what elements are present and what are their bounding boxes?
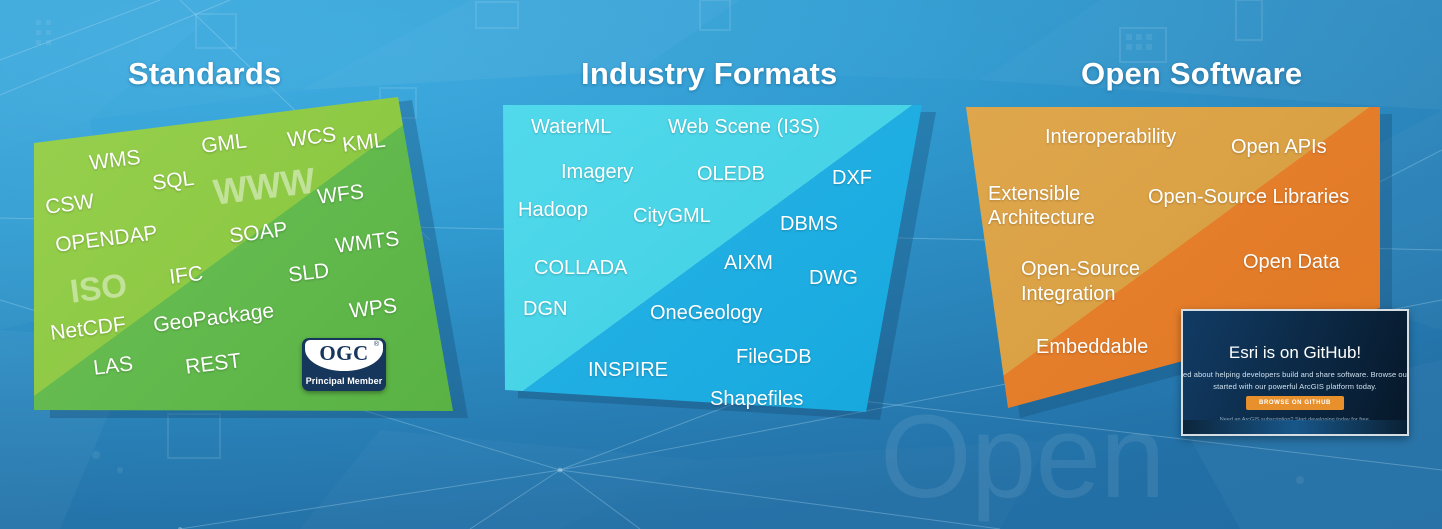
standards-las: LAS bbox=[92, 352, 134, 381]
industry_formats-oledb: OLEDB bbox=[697, 163, 765, 186]
industry_formats-citygml: CityGML bbox=[633, 205, 711, 228]
industry_formats-aixm: AIXM bbox=[724, 252, 773, 275]
github-inset-line-1: ed about helping developers build and sh… bbox=[1183, 370, 1407, 379]
browse-on-github-button[interactable]: BROWSE ON GITHUB bbox=[1246, 396, 1344, 410]
industry_formats-dgn: DGN bbox=[523, 298, 567, 321]
industry_formats-dbms: DBMS bbox=[780, 213, 838, 236]
open_software-embeddable: Embeddable bbox=[1036, 336, 1148, 359]
industry_formats-web-scene-i3s: Web Scene (I3S) bbox=[668, 116, 820, 139]
ogc-principal-member-badge: OGC ® Principal Member bbox=[302, 338, 386, 391]
open_software-extensible: Extensible bbox=[988, 183, 1080, 206]
open_software-open-data: Open Data bbox=[1243, 251, 1340, 274]
github-inset-line-2: started with our powerful ArcGIS platfor… bbox=[1183, 382, 1407, 391]
standards-sql: SQL bbox=[151, 167, 196, 196]
standards-ifc: IFC bbox=[168, 262, 205, 290]
github-inset-bottom-strip bbox=[1183, 420, 1407, 434]
industry_formats-onegeology: OneGeology bbox=[650, 302, 762, 325]
open_software-architecture: Architecture bbox=[988, 207, 1095, 230]
open_software-open-source: Open-Source bbox=[1021, 258, 1140, 281]
open_software-open-source-libraries: Open-Source Libraries bbox=[1148, 186, 1349, 209]
github-inset-title: Esri is on GitHub! bbox=[1183, 343, 1407, 363]
industry_formats-filegdb: FileGDB bbox=[736, 346, 812, 369]
industry_formats-collada: COLLADA bbox=[534, 257, 627, 280]
esri-github-screenshot: Esri is on GitHub! ed about helping deve… bbox=[1181, 309, 1409, 436]
open_software-interoperability: Interoperability bbox=[1045, 126, 1176, 149]
industry_formats-shapefiles: Shapefiles bbox=[710, 388, 803, 411]
industry_formats-imagery: Imagery bbox=[561, 161, 633, 184]
ogc-badge-registered-icon: ® bbox=[374, 341, 379, 348]
industry_formats-hadoop: Hadoop bbox=[518, 199, 588, 222]
industry_formats-dwg: DWG bbox=[809, 267, 858, 290]
standards-iso: ISO bbox=[68, 266, 129, 311]
standards-sld: SLD bbox=[287, 259, 330, 288]
industry_formats-waterml: WaterML bbox=[531, 116, 611, 139]
open_software-open-apis: Open APIs bbox=[1231, 136, 1327, 159]
industry_formats-inspire: INSPIRE bbox=[588, 359, 668, 382]
industry_formats-dxf: DXF bbox=[832, 167, 872, 190]
ogc-badge-subtitle: Principal Member bbox=[302, 376, 386, 386]
open_software-integration: Integration bbox=[1021, 283, 1116, 306]
